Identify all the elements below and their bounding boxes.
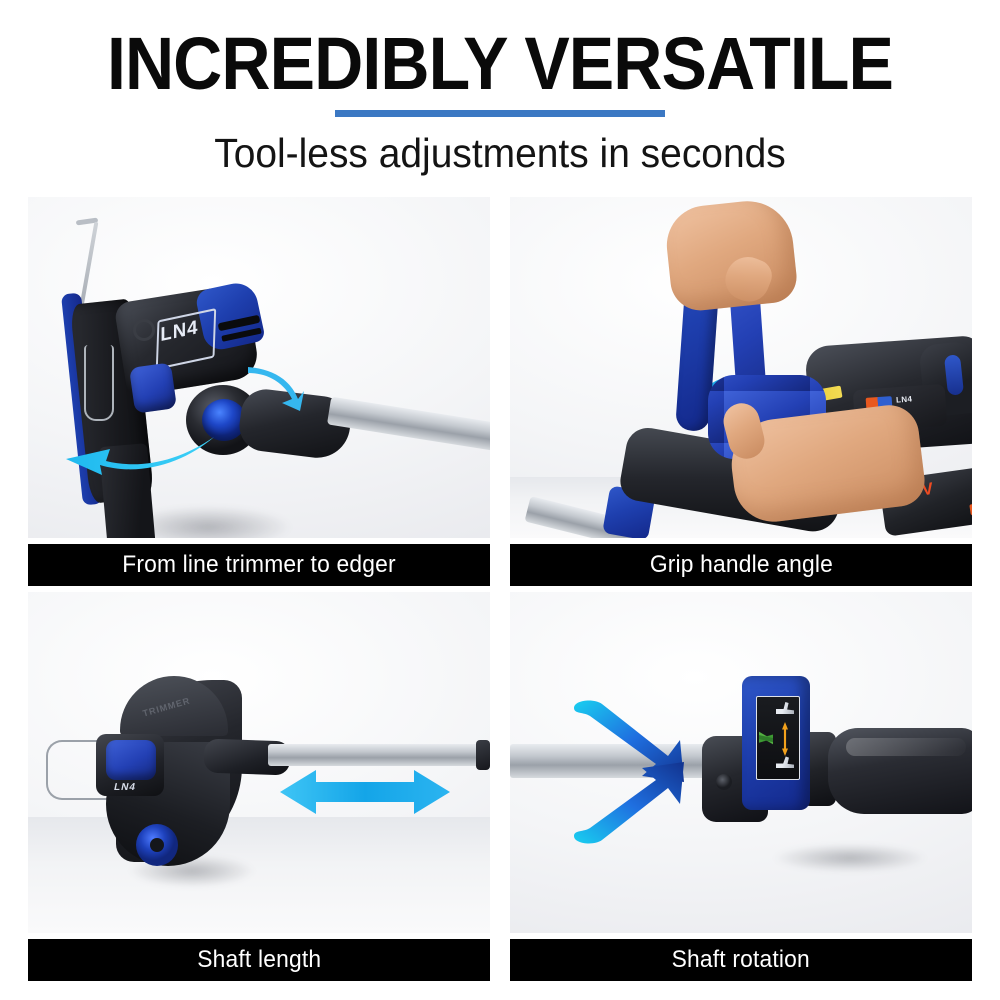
panel-caption-bar: From line trimmer to edger xyxy=(28,544,490,586)
twist-arrow-icon xyxy=(568,698,694,846)
product-photo-grip-handle-angle: LN4 20V xyxy=(510,197,972,538)
pivot-release-knob xyxy=(129,362,177,413)
edging-wheel-hub xyxy=(150,838,164,852)
panel-caption-text: From line trimmer to edger xyxy=(122,551,396,579)
hand-upper xyxy=(663,197,799,313)
page-subtitle: Tool-less adjustments in seconds xyxy=(25,128,975,178)
product-photo-shaft-rotation xyxy=(510,592,972,933)
product-photo-trimmer-to-edger: LN4 xyxy=(28,197,490,538)
battery-brand-mark xyxy=(969,502,972,516)
grip-highlight xyxy=(846,738,966,756)
shaft-end-cap xyxy=(476,740,490,770)
joint-screw xyxy=(716,774,732,790)
guard-clip xyxy=(84,345,114,421)
panel-caption-bar: Grip handle angle xyxy=(510,544,972,586)
title-divider xyxy=(335,110,665,117)
drop-shadow xyxy=(740,838,960,878)
panel-caption-bar: Shaft rotation xyxy=(510,939,972,981)
feature-grid: LN4 From line trimmer to edger xyxy=(28,197,972,975)
feature-panel-grip-handle-angle[interactable]: LN4 20V Grip xyxy=(510,197,972,586)
double-headed-arrow-icon xyxy=(280,768,450,816)
head-brand-label: LN4 xyxy=(113,782,137,793)
grass-icon xyxy=(759,710,773,766)
panel-caption-text: Shaft rotation xyxy=(672,946,810,974)
rotation-arrow-icon xyxy=(66,433,214,475)
feature-panel-trimmer-to-edger[interactable]: LN4 From line trimmer to edger xyxy=(28,197,490,586)
wire-eyelet xyxy=(133,319,155,341)
page-title: INCREDIBLY VERSATILE xyxy=(40,26,960,102)
motor-blue-panel xyxy=(106,740,156,780)
title-divider-wrap xyxy=(0,102,1000,124)
marketing-header: INCREDIBLY VERSATILE Tool-less adjustmen… xyxy=(0,0,1000,178)
feature-panel-shaft-length[interactable]: TRIMMER LN4 Shaft length xyxy=(28,592,490,981)
feature-panel-shaft-rotation[interactable]: Shaft rotation xyxy=(510,592,972,981)
product-photo-shaft-length: TRIMMER LN4 xyxy=(28,592,490,933)
panel-caption-text: Shaft length xyxy=(197,946,321,974)
brand-logo-label: LN4 xyxy=(896,394,913,404)
panel-caption-bar: Shaft length xyxy=(28,939,490,981)
shaft-tube xyxy=(268,744,484,766)
rotation-arrow-small-icon xyxy=(246,365,304,411)
panel-caption-text: Grip handle angle xyxy=(649,551,832,579)
